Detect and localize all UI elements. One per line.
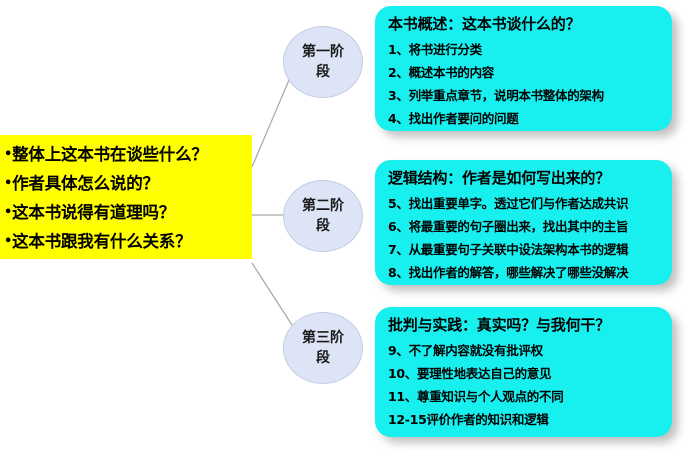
stage-panel-1: 本书概述：这本书谈什么的？ 1、将书进行分类 2、概述本书的内容 3、列举重点章… (375, 6, 672, 131)
stage-node-1[interactable]: 第一阶 段 (283, 26, 363, 98)
stage-panel-3-item-2: 10、要理性地表达自己的意见 (388, 362, 664, 385)
stage-node-3[interactable]: 第三阶 段 (283, 312, 363, 384)
stage-panel-3-item-4: 12-15评价作者的知识和逻辑 (388, 408, 664, 431)
stage-panel-2-item-1: 5、找出重要单字。透过它们与作者达成共识 (388, 192, 664, 215)
stage-node-1-label-line2: 段 (316, 62, 330, 82)
stage-panel-3-item-1: 9、不了解内容就没有批评权 (388, 339, 664, 362)
stage-panel-2-item-4: 8、找出作者的解答，哪些解决了哪些没解决 (388, 261, 664, 284)
question-line-3: 这本书说得有道理吗？ (4, 198, 250, 227)
stage-node-3-label-line2: 段 (316, 348, 330, 368)
stage-panel-1-item-3: 3、列举重点章节，说明本书整体的架构 (388, 84, 664, 107)
stage-panel-1-item-1: 1、将书进行分类 (388, 38, 664, 61)
stage-panel-3-title: 批判与实践：真实吗？与我何干？ (388, 314, 664, 337)
connector-line-stage-3 (252, 263, 292, 325)
mindmap-canvas: 整体上这本书在谈些什么？ 作者具体怎么说的？ 这本书说得有道理吗？ 这本书跟我有… (0, 0, 700, 461)
question-line-1: 整体上这本书在谈些什么？ (4, 140, 250, 169)
stage-node-3-label-line1: 第三阶 (302, 328, 344, 348)
stage-panel-2-item-3: 7、从最重要句子关联中设法架构本书的逻辑 (388, 238, 664, 261)
question-line-2: 作者具体怎么说的？ (4, 169, 250, 198)
stage-panel-3: 批判与实践：真实吗？与我何干？ 9、不了解内容就没有批评权 10、要理性地表达自… (375, 307, 672, 437)
stage-panel-1-item-2: 2、概述本书的内容 (388, 61, 664, 84)
stage-node-2-label-line2: 段 (316, 216, 330, 236)
stage-panel-2: 逻辑结构：作者是如何写出来的？ 5、找出重要单字。透过它们与作者达成共识 6、将… (375, 160, 672, 285)
question-block: 整体上这本书在谈些什么？ 作者具体怎么说的？ 这本书说得有道理吗？ 这本书跟我有… (0, 135, 252, 259)
stage-node-2-label-line1: 第二阶 (302, 196, 344, 216)
stage-panel-2-title: 逻辑结构：作者是如何写出来的？ (388, 167, 664, 190)
connector-line-stage-1 (252, 80, 289, 167)
stage-node-2[interactable]: 第二阶 段 (283, 180, 363, 252)
stage-panel-3-item-3: 11、尊重知识与个人观点的不同 (388, 385, 664, 408)
stage-panel-1-item-4: 4、找出作者要问的问题 (388, 107, 664, 130)
question-line-4: 这本书跟我有什么关系？ (4, 227, 250, 256)
stage-node-1-label-line1: 第一阶 (302, 42, 344, 62)
stage-panel-2-item-2: 6、将最重要的句子圈出来，找出其中的主旨 (388, 215, 664, 238)
stage-panel-1-title: 本书概述：这本书谈什么的？ (388, 13, 664, 36)
